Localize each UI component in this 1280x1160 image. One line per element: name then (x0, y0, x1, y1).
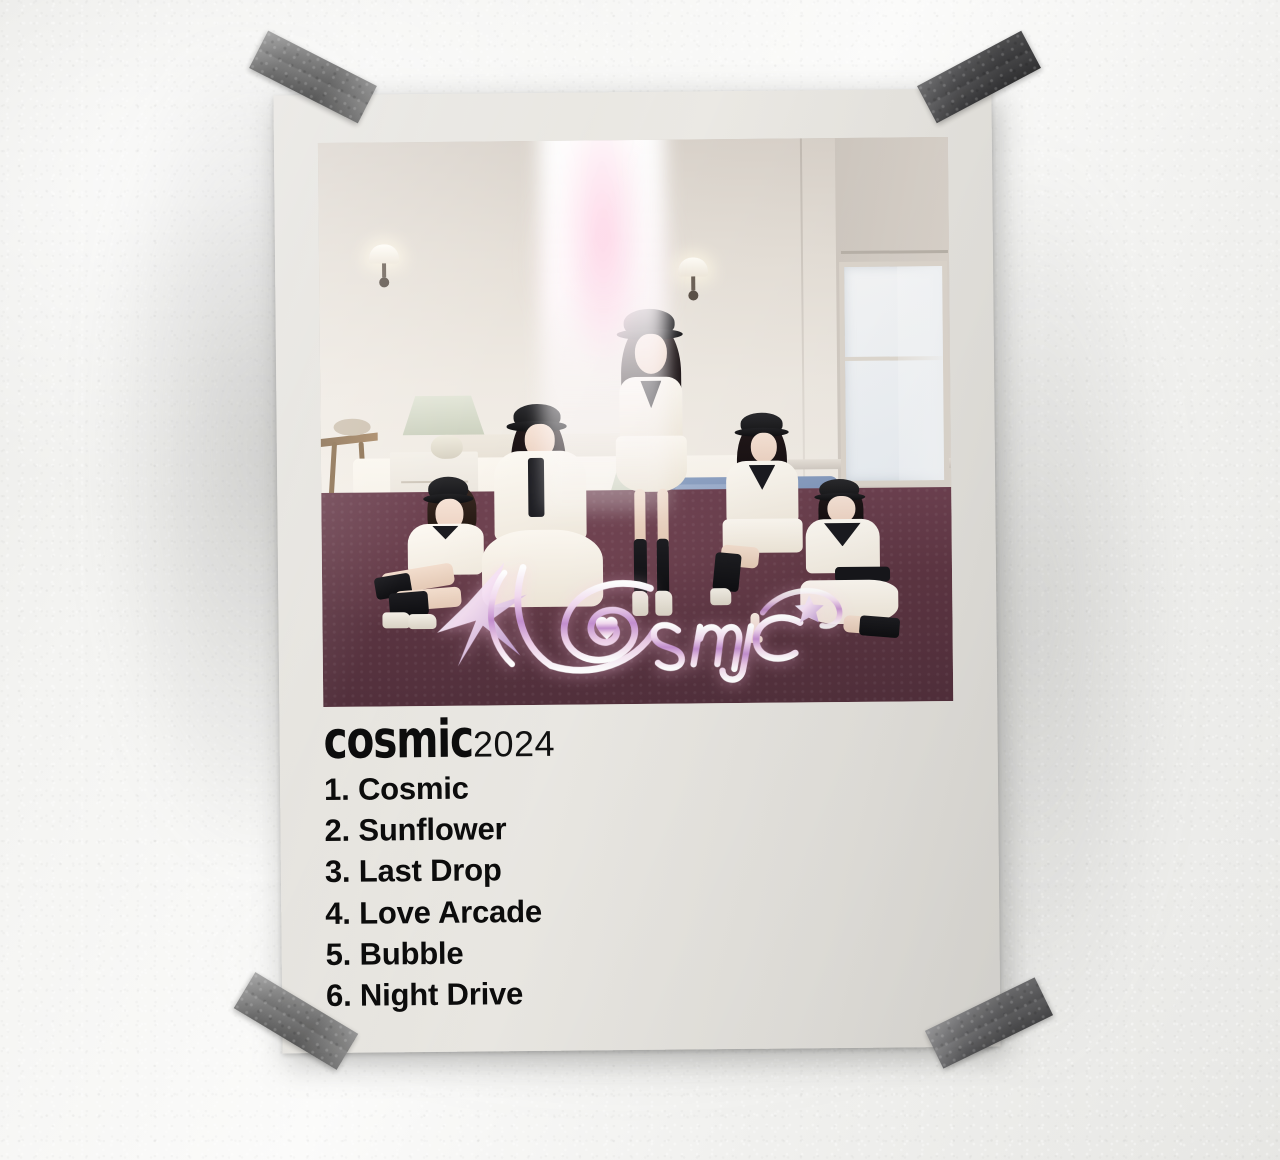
track-number: 6. (326, 978, 352, 1013)
light-flare (538, 137, 668, 513)
track-item: 4. Love Arcade (325, 887, 965, 934)
sconce-arm (382, 263, 386, 277)
sconce-plate (380, 277, 390, 287)
poster[interactable]: cosmic 2024 1. Cosmic 2. Sunflower 3. La… (273, 89, 1000, 1054)
track-number: 1. (324, 772, 350, 807)
track-title: Last Drop (359, 853, 502, 889)
track-item: 2. Sunflower (324, 804, 964, 851)
album-year: 2024 (473, 723, 555, 766)
poster-caption: cosmic 2024 1. Cosmic 2. Sunflower 3. La… (323, 711, 966, 1016)
poster-card[interactable]: cosmic 2024 1. Cosmic 2. Sunflower 3. La… (273, 89, 1000, 1054)
track-title: Cosmic (358, 771, 469, 807)
album-cover-photo (318, 137, 953, 707)
lamp-shade-icon (369, 244, 399, 263)
tracklist: 1. Cosmic 2. Sunflower 3. Last Drop 4. L… (324, 763, 966, 1016)
track-title: Bubble (359, 936, 463, 972)
track-item: 5. Bubble (325, 928, 965, 975)
track-number: 3. (325, 854, 351, 889)
track-item: 6. Night Drive (326, 969, 966, 1016)
window (839, 261, 949, 486)
track-title: Night Drive (360, 976, 523, 1013)
track-number: 4. (325, 895, 351, 930)
track-number: 2. (324, 813, 350, 848)
cosmic-script-logo (422, 527, 864, 689)
wall-sconce-left (369, 244, 399, 287)
track-title: Sunflower (358, 811, 506, 847)
table-lamp-base (431, 435, 463, 459)
title-row: cosmic 2024 (323, 711, 963, 767)
track-number: 5. (325, 937, 351, 972)
track-item: 3. Last Drop (325, 845, 965, 892)
curtain (897, 266, 944, 481)
track-title: Love Arcade (359, 894, 542, 931)
album-title: cosmic (323, 716, 473, 767)
